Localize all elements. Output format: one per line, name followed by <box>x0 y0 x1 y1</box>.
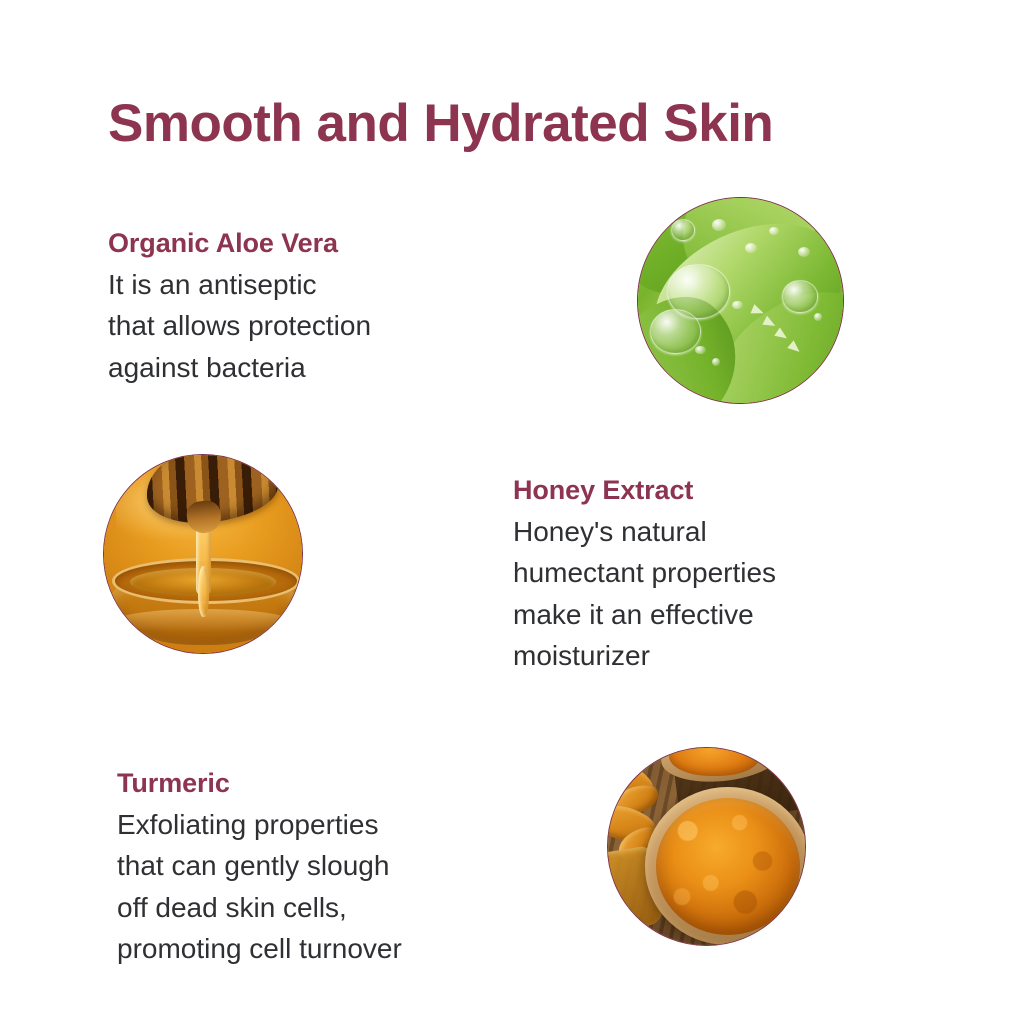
wooden-bowl <box>645 787 806 945</box>
feature-body-line: make it an effective <box>513 594 943 636</box>
feature-body-line: off dead skin cells, <box>117 887 557 929</box>
turmeric-photo <box>607 747 806 946</box>
feature-body-line: Exfoliating properties <box>117 804 557 846</box>
aloe-photo-art <box>638 198 843 403</box>
feature-heading-turmeric: Turmeric <box>117 766 557 801</box>
turmeric-powder <box>656 798 800 935</box>
feature-body-line: against bacteria <box>108 347 528 389</box>
feature-body-line: that allows protection <box>108 305 528 347</box>
feature-text-turmeric: Turmeric Exfoliating properties that can… <box>117 766 557 970</box>
feature-text-aloe: Organic Aloe Vera It is an antiseptic th… <box>108 226 528 388</box>
honey-stream <box>198 566 209 617</box>
water-droplet <box>782 280 819 313</box>
feature-text-honey: Honey Extract Honey's natural humectant … <box>513 473 943 677</box>
water-speck <box>695 346 705 354</box>
turmeric-photo-art <box>608 748 805 945</box>
water-speck <box>732 301 742 309</box>
turmeric-powder-texture <box>656 798 800 935</box>
feature-body-line: moisturizer <box>513 635 943 677</box>
honey-photo <box>103 454 303 654</box>
feature-body-turmeric: Exfoliating properties that can gently s… <box>117 804 557 970</box>
feature-body-line: promoting cell turnover <box>117 928 557 970</box>
feature-body-line: humectant properties <box>513 552 943 594</box>
feature-body-line: It is an antiseptic <box>108 264 528 306</box>
feature-heading-aloe: Organic Aloe Vera <box>108 226 528 261</box>
honey-photo-art <box>104 455 302 653</box>
water-speck <box>712 358 720 366</box>
water-speck <box>712 219 726 231</box>
feature-heading-honey: Honey Extract <box>513 473 943 508</box>
water-droplet <box>650 309 701 354</box>
feature-body-line: that can gently slough <box>117 845 557 887</box>
aloe-vera-photo <box>637 197 844 404</box>
skincare-ingredients-poster: Smooth and Hydrated Skin Organic Aloe Ve… <box>0 0 1024 1024</box>
page-title: Smooth and Hydrated Skin <box>108 94 958 153</box>
feature-body-honey: Honey's natural humectant properties mak… <box>513 511 943 677</box>
feature-body-line: Honey's natural <box>513 511 943 553</box>
feature-body-aloe: It is an antiseptic that allows protecti… <box>108 264 528 389</box>
